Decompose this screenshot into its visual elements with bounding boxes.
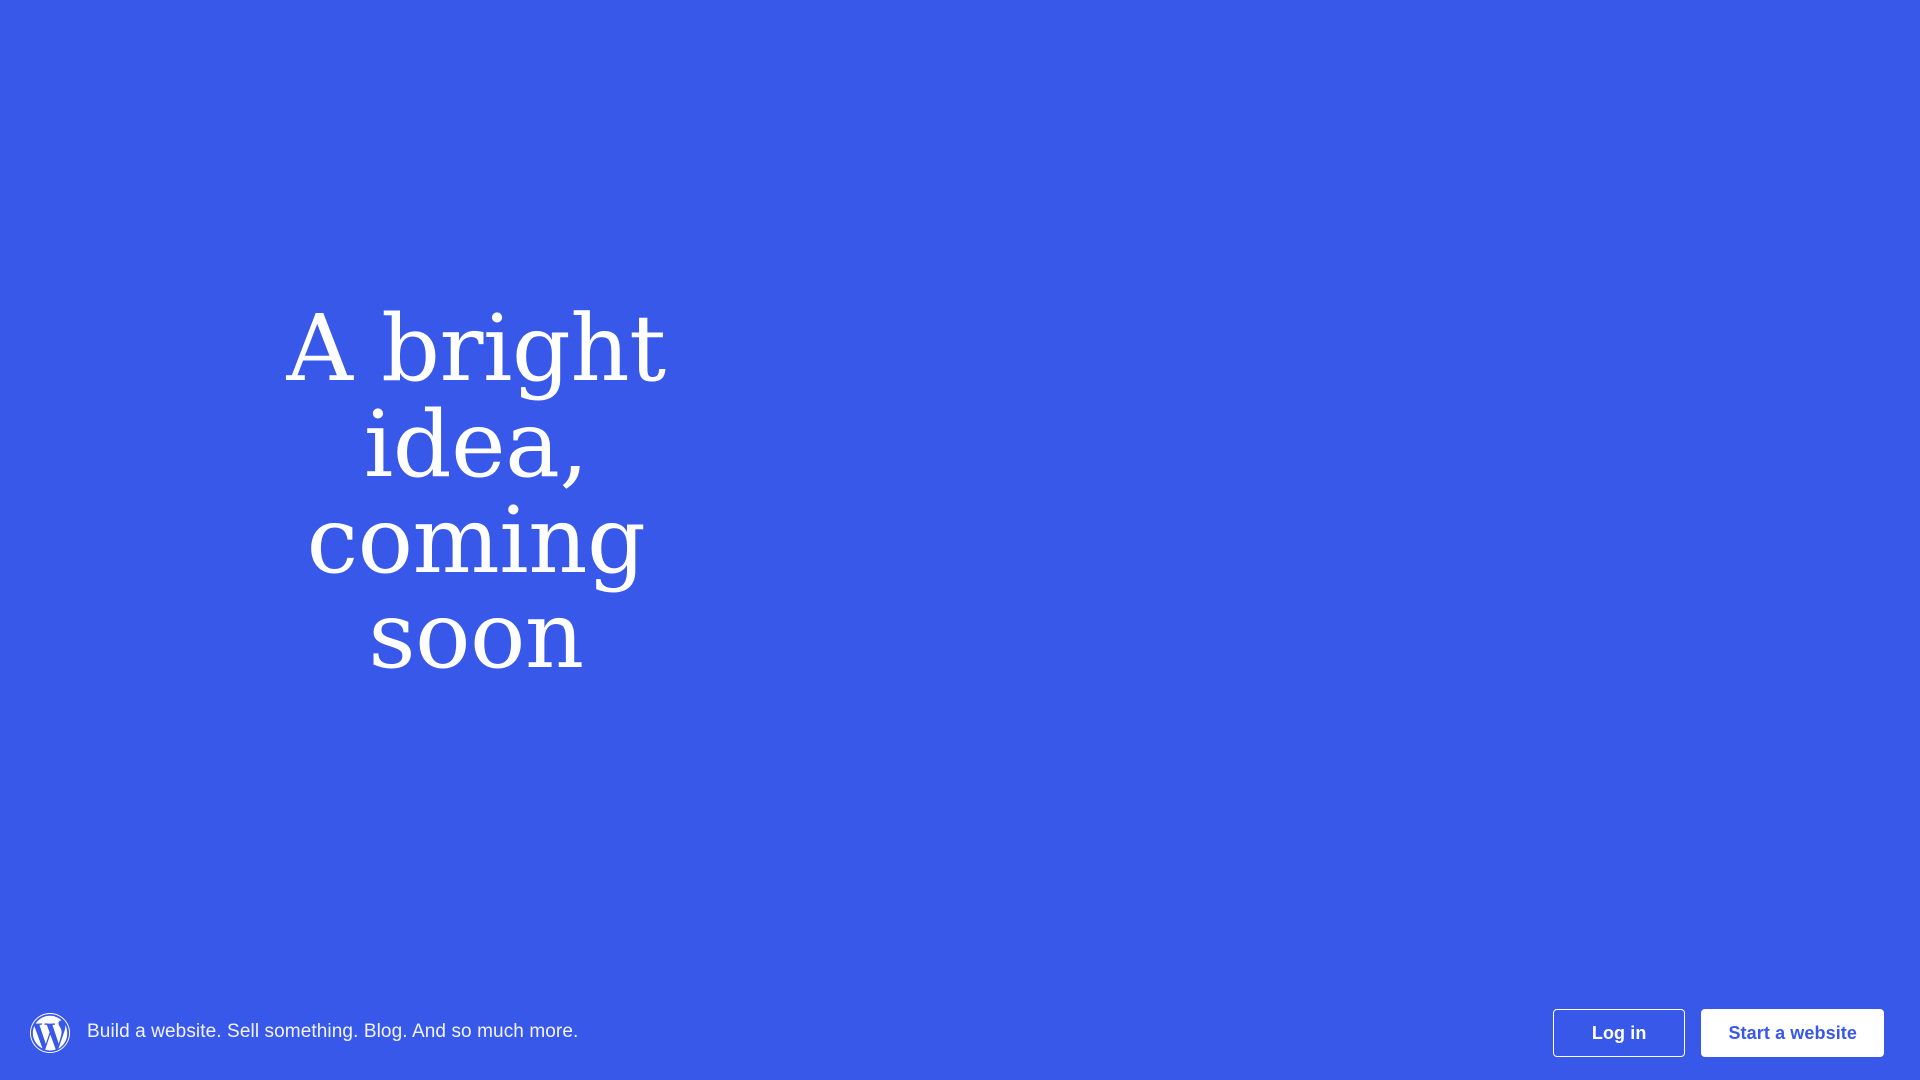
wordpress-logo-icon bbox=[30, 1013, 70, 1053]
page-title: A bright idea, coming soon bbox=[186, 301, 766, 684]
footer-actions: Log in Start a website bbox=[1553, 1009, 1884, 1057]
coming-soon-page: A bright idea, coming soon Build a websi… bbox=[0, 0, 1920, 1080]
footer-tagline: Build a website. Sell something. Blog. A… bbox=[87, 1021, 578, 1044]
hero-content: A bright idea, coming soon bbox=[186, 301, 766, 684]
footer-bar: Build a website. Sell something. Blog. A… bbox=[0, 985, 1920, 1080]
hero-section: A bright idea, coming soon bbox=[0, 0, 1920, 985]
start-a-website-button[interactable]: Start a website bbox=[1701, 1009, 1884, 1057]
footer-branding: Build a website. Sell something. Blog. A… bbox=[30, 1013, 1553, 1053]
login-button[interactable]: Log in bbox=[1553, 1009, 1686, 1057]
